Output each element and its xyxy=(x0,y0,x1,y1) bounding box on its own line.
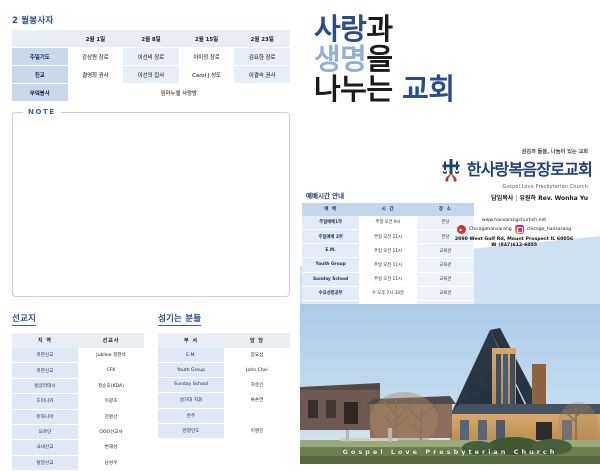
headline-line-2: 생명을 xyxy=(314,44,455,74)
instagram-handle[interactable]: chicago_hansarang xyxy=(527,227,571,232)
mission-table: 지 역 선교사 북한선교Jubilee 정현석 북한선교CFK 방글라데시정순호… xyxy=(12,333,144,471)
schedule-time: 주일 오전 11시 xyxy=(359,229,416,243)
table-row: 국내선교변해성 xyxy=(12,440,144,455)
table-row: Youth Group주일 오전 11시교육관 xyxy=(302,258,474,272)
mission-region: 북한선교 xyxy=(12,348,78,363)
mission-missionary: CFK xyxy=(78,363,144,378)
youtube-handle[interactable]: Chicagohansarang xyxy=(469,227,512,232)
serving-dept: Sunday School xyxy=(158,377,224,392)
table-row: 부엌봉사 임마누엘 사랑방 xyxy=(12,84,290,102)
church-address: 2090 West Golf Rd, Mount Prospect IL 600… xyxy=(434,237,594,242)
table-row: E.M.장요섭 xyxy=(158,348,290,363)
schedule-place: 교육관 xyxy=(417,286,474,300)
schedule-place: 교육관 xyxy=(417,258,474,272)
schedule-service: 주일예배1부 xyxy=(302,216,359,230)
mission-missionary: 이광호 xyxy=(78,394,144,409)
serving-table: 부 서 담 당 E.M.장요섭 Youth GroupJohn Choi Sun… xyxy=(158,333,290,439)
schedule-col-place: 장 소 xyxy=(417,203,474,216)
mission-col-region: 지 역 xyxy=(12,333,78,348)
serving-person: 하승인 xyxy=(224,377,290,392)
table-row: 북한선교Jubilee 정현석 xyxy=(12,348,144,363)
pastor-label: 담임목사 xyxy=(491,195,513,202)
mission-missionary: 정순호(KDA) xyxy=(78,378,144,393)
contact-block: www.hansarangchurhch.net Chicagohansaran… xyxy=(434,218,594,248)
right-panel: 사랑과 생명을 나누는 교회 섬김과 돌봄, 나눔이 있는 교회 xyxy=(300,0,600,464)
table-row: 도미니카이광호 xyxy=(12,394,144,409)
pastor-separator: | xyxy=(515,195,517,202)
volunteer-col-1: 2월 1일 xyxy=(68,30,124,48)
table-row: 북한선교CFK xyxy=(12,363,144,378)
headline-accent-2: 생명 xyxy=(314,42,366,76)
left-panel: 2 월봉사자 2월 1일 2월 8일 2월 15일 2월 23일 주일기도 강상… xyxy=(0,0,300,464)
schedule-service: 주일예배 2부 xyxy=(302,229,359,243)
volunteer-col-0 xyxy=(12,30,68,48)
mission-missionary: OOO선교사 xyxy=(78,424,144,439)
church-name-korean: 한사랑복음장로교회 xyxy=(467,162,592,178)
volunteer-table-header-row: 2월 1일 2월 8일 2월 15일 2월 23일 xyxy=(12,30,290,48)
schedule-service: 수요성령공부 xyxy=(302,286,359,300)
table-row: Sunday School하승인 xyxy=(158,377,290,392)
instagram-icon[interactable] xyxy=(515,225,524,234)
table-row: 반주 xyxy=(158,408,290,423)
mission-missionary: 남성우 xyxy=(78,455,144,470)
schedule-service: Sunday School xyxy=(302,272,359,286)
volunteer-section-title: 2 월봉사자 xyxy=(12,14,290,26)
serving-dept: 찬양인도 xyxy=(158,423,224,438)
volunteer-cell: 김요한 장로 xyxy=(234,48,290,66)
schedule-time: 주일 오전 11시 xyxy=(359,244,416,258)
volunteer-cell: 이미정 장로 xyxy=(179,48,235,66)
headline-line-3: 나누는 교회 xyxy=(314,74,455,104)
table-row: 친교 결영희 권사 이선의 집사 Carol J 성도 이결숙 권사 xyxy=(12,66,290,84)
volunteer-row-label: 부엌봉사 xyxy=(12,84,68,102)
volunteer-cell: Carol J 성도 xyxy=(179,66,235,84)
volunteer-row-label: 주일기도 xyxy=(12,48,68,66)
mission-region: 탄자니아 xyxy=(12,409,78,424)
serving-person: John Choi xyxy=(224,363,290,377)
table-row: 방글라데시정순호(KDA) xyxy=(12,378,144,393)
mission-region: 국내선교 xyxy=(12,440,78,455)
mission-region: 방글라데시 xyxy=(12,378,78,393)
brand-name-row: 한사랑복음장로교회 xyxy=(302,157,592,183)
serving-person: 장요섭 xyxy=(224,348,290,363)
volunteer-cell: 강상원 장로 xyxy=(68,48,124,66)
headline-rest-3: 나누는 xyxy=(314,72,402,106)
mission-region: 요르단 xyxy=(12,424,78,439)
serving-dept: 반주 xyxy=(158,408,224,423)
volunteer-col-4: 2월 23일 xyxy=(234,30,290,48)
volunteer-row-label: 친교 xyxy=(12,66,68,84)
serving-col-dept: 부 서 xyxy=(158,333,224,348)
schedule-col-time: 시 간 xyxy=(359,203,416,216)
serving-person xyxy=(224,408,290,423)
schedule-service: E.M. xyxy=(302,244,359,258)
volunteer-cell: 이결숙 권사 xyxy=(234,66,290,84)
table-row: 찬양인도이명진 xyxy=(158,423,290,438)
headline-line-1: 사랑과 xyxy=(314,14,455,44)
church-name-english: Gospel Love Presbyterian Church xyxy=(302,185,588,190)
serving-col-person: 담 당 xyxy=(224,333,290,348)
table-row: 요르단OOO선교사 xyxy=(12,424,144,439)
serving-dept: Youth Group xyxy=(158,363,224,377)
mission-missionary: 변해성 xyxy=(78,440,144,455)
table-row: 탈알선교남성우 xyxy=(12,455,144,470)
serving-person: 이명진 xyxy=(224,423,290,438)
schedule-time: 주일 오전 11시 xyxy=(359,258,416,272)
headline-rest-2: 을 xyxy=(366,42,392,76)
church-phone: ☎ (847)612-6055 xyxy=(434,243,594,248)
table-row: 성가대 지휘류손연 xyxy=(158,393,290,408)
table-row: Sunday School주일 오전 11시교육관 xyxy=(302,272,474,286)
volunteer-merged-cell: 임마누엘 사랑방 xyxy=(68,84,290,102)
schedule-title: 예배시간 안내 xyxy=(306,190,474,200)
mission-missionary: 강명선 xyxy=(78,409,144,424)
mission-section-title: 선교지 xyxy=(12,312,36,326)
website-url[interactable]: www.hansarangchurhch.net xyxy=(434,218,594,223)
mission-region: 도미니카 xyxy=(12,394,78,409)
bulletin-page: 2 월봉사자 2월 1일 2월 8일 2월 15일 2월 23일 주일기도 강상… xyxy=(0,0,600,464)
youtube-icon[interactable] xyxy=(457,225,466,234)
serving-dept: E.M. xyxy=(158,348,224,363)
mission-header-row: 지 역 선교사 xyxy=(12,333,144,348)
table-row: 탄자니아강명선 xyxy=(12,409,144,424)
pastor-name: 유원하 Rev. Wonha Yu xyxy=(519,195,588,202)
church-cross-logo-icon xyxy=(438,157,464,183)
volunteer-table: 2월 1일 2월 8일 2월 15일 2월 23일 주일기도 강상원 장로 이선… xyxy=(12,30,290,102)
serving-section-title: 섬기는 분들 xyxy=(158,312,201,326)
schedule-service: Youth Group xyxy=(302,258,359,272)
headline: 사랑과 생명을 나누는 교회 xyxy=(314,14,455,104)
note-box[interactable]: NOTE xyxy=(12,112,290,297)
headline-rest-1: 과 xyxy=(366,12,392,46)
headline-accent-3: 교회 xyxy=(402,72,454,106)
brand-tagline: 섬김과 돌봄, 나눔이 있는 교회 xyxy=(302,148,588,155)
schedule-header-row: 예 배 시 간 장 소 xyxy=(302,203,474,216)
mission-region: 북한선교 xyxy=(12,363,78,378)
church-photo: Gospel Love Presbyterian Church xyxy=(300,304,600,464)
volunteer-col-2: 2월 8일 xyxy=(123,30,179,48)
schedule-time: 수 오후 7시 30분 xyxy=(359,286,416,300)
schedule-time: 주일 오전 9시 xyxy=(359,216,416,230)
table-row: Youth GroupJohn Choi xyxy=(158,363,290,377)
schedule-col-service: 예 배 xyxy=(302,203,359,216)
bottom-tables: 선교지 지 역 선교사 북한선교Jubilee 정현석 북한선교CFK 방글라데… xyxy=(12,306,290,471)
mission-region: 탈알선교 xyxy=(12,455,78,470)
social-row: Chicagohansarang chicago_hansarang xyxy=(434,225,594,234)
mission-col-missionary: 선교사 xyxy=(78,333,144,348)
serving-person: 류손연 xyxy=(224,393,290,408)
volunteer-cell: 결영희 권사 xyxy=(68,66,124,84)
volunteer-col-3: 2월 15일 xyxy=(179,30,235,48)
serving-dept: 성가대 지휘 xyxy=(158,393,224,408)
table-row: 수요성령공부수 오후 7시 30분교육관 xyxy=(302,286,474,300)
volunteer-cell: 이선비 장로 xyxy=(123,48,179,66)
schedule-place: 교육관 xyxy=(417,272,474,286)
mission-missionary: Jubilee 정현석 xyxy=(78,348,144,363)
serving-section: 섬기는 분들 부 서 담 당 E.M.장요섭 Youth GroupJohn C… xyxy=(158,306,290,471)
table-row: 주일기도 강상원 장로 이선비 장로 이미정 장로 김요한 장로 xyxy=(12,48,290,66)
volunteer-cell: 이선의 집사 xyxy=(123,66,179,84)
schedule-time: 주일 오전 11시 xyxy=(359,272,416,286)
mission-section: 선교지 지 역 선교사 북한선교Jubilee 정현석 북한선교CFK 방글라데… xyxy=(12,306,144,471)
note-label: NOTE xyxy=(23,108,61,116)
headline-accent-1: 사랑 xyxy=(314,12,366,46)
serving-header-row: 부 서 담 당 xyxy=(158,333,290,348)
photo-caption: Gospel Love Presbyterian Church xyxy=(300,448,600,456)
